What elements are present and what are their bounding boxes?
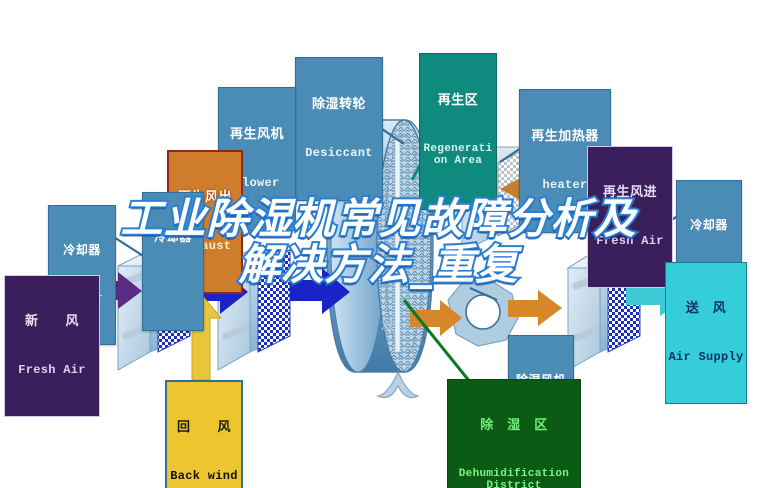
- label-cooler-mid[interactable]: 冷却器: [142, 192, 204, 331]
- label-dehum-district[interactable]: 除 湿 区 Dehumidification District: [447, 379, 581, 488]
- label-fresh-air[interactable]: 新 风 Fresh Air: [4, 275, 100, 417]
- label-regen-area[interactable]: 再生区 Regenerati on Area: [419, 53, 497, 210]
- label-regen-fresh-air[interactable]: 再生风进 Fresh Air: [587, 146, 673, 288]
- label-desiccant[interactable]: 除湿转轮 Desiccant: [295, 57, 383, 201]
- diagram-canvas: xt 除湿转轮 Desiccant 再生风机 Blower 再生区 Regene…: [0, 0, 757, 488]
- wheel-watermark: xt: [381, 317, 394, 334]
- label-air-supply[interactable]: 送 风 Air Supply: [665, 262, 747, 404]
- label-back-wind[interactable]: 回 风 Back wind: [165, 380, 243, 488]
